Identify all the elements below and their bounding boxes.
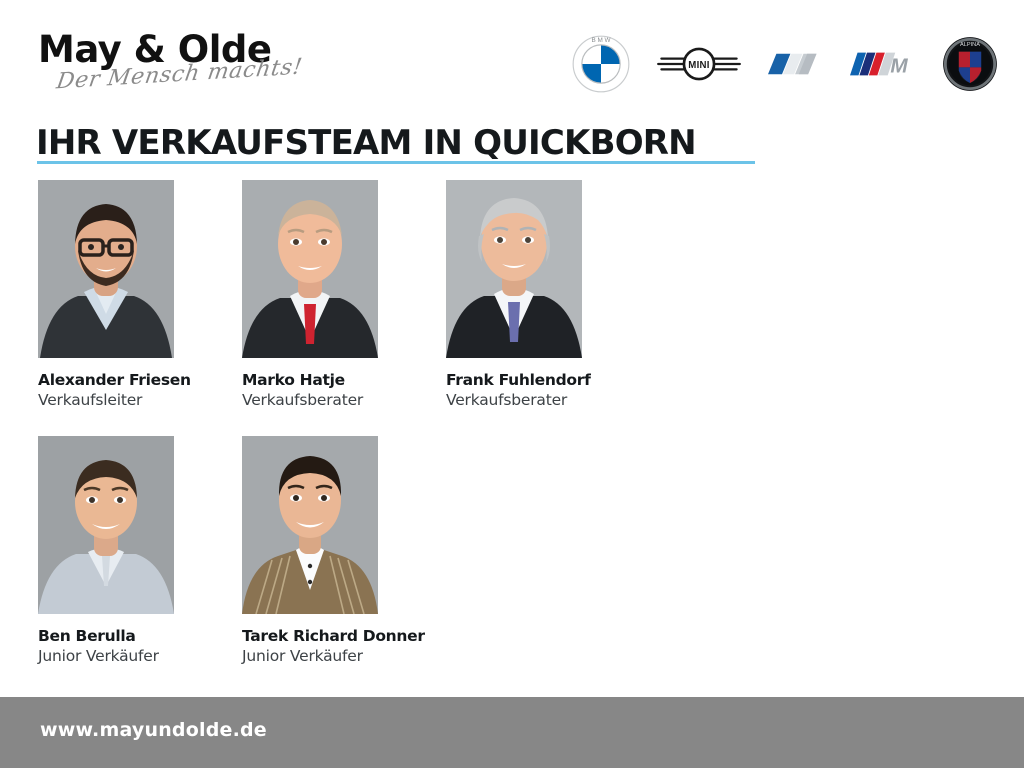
svg-text:M: M (890, 54, 908, 77)
team-member-card[interactable]: Frank Fuhlendorf Verkaufsberater (446, 180, 650, 409)
team-member-name: Frank Fuhlendorf (446, 371, 650, 389)
page-title: IHR VERKAUFSTEAM IN QUICKBORN (36, 123, 696, 163)
team-member-card[interactable]: Alexander Friesen Verkaufsleiter (38, 180, 242, 409)
brand-logo-strip: B M W MINI (572, 34, 998, 94)
team-member-role: Verkaufsberater (242, 391, 446, 409)
title-underline (37, 161, 755, 164)
portrait-alexander-friesen (38, 180, 174, 358)
bmw-m-logo: M (850, 49, 916, 79)
portrait-marko-hatje (242, 180, 378, 358)
bmw-i-logo (768, 49, 824, 79)
team-member-name: Ben Berulla (38, 627, 242, 645)
team-member-card[interactable]: Tarek Richard Donner Junior Verkäufer (242, 436, 446, 665)
team-member-role: Verkaufsleiter (38, 391, 242, 409)
company-logo: May & Olde Der Mensch machts! (38, 30, 338, 102)
svg-text:ALPINA: ALPINA (960, 42, 980, 48)
page-footer: www.mayundolde.de (0, 697, 1024, 768)
team-member-card[interactable]: Marko Hatje Verkaufsberater (242, 180, 446, 409)
portrait-tarek-richard-donner (242, 436, 378, 614)
svg-text:B M W: B M W (591, 37, 610, 44)
team-member-name: Alexander Friesen (38, 371, 242, 389)
team-member-role: Junior Verkäufer (38, 647, 242, 665)
slide-root: May & Olde Der Mensch machts! B M W (0, 0, 1024, 768)
portrait-ben-berulla (38, 436, 174, 614)
mini-logo: MINI (656, 42, 742, 86)
team-member-name: Marko Hatje (242, 371, 446, 389)
portrait-frank-fuhlendorf (446, 180, 582, 358)
alpina-logo: ALPINA (942, 36, 998, 92)
team-member-name: Tarek Richard Donner (242, 627, 446, 645)
team-member-role: Junior Verkäufer (242, 647, 446, 665)
page-header: May & Olde Der Mensch machts! B M W (0, 0, 1024, 108)
team-member-card[interactable]: Ben Berulla Junior Verkäufer (38, 436, 242, 665)
bmw-logo: B M W (572, 35, 630, 93)
website-url[interactable]: www.mayundolde.de (40, 719, 267, 741)
svg-text:MINI: MINI (688, 60, 710, 71)
team-member-role: Verkaufsberater (446, 391, 650, 409)
